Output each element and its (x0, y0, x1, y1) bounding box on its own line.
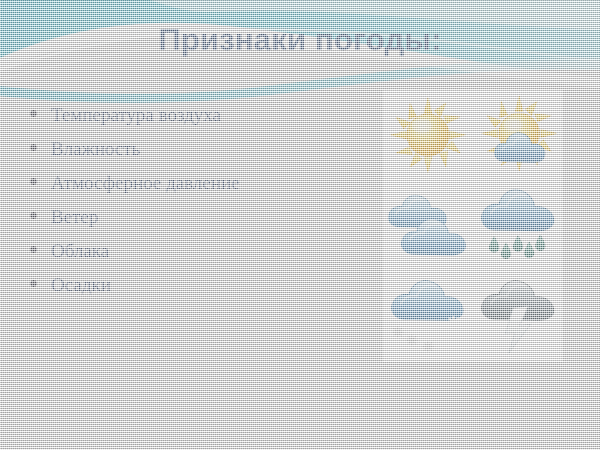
list-item: Осадки (30, 276, 370, 310)
rain-cloud-icon (478, 187, 558, 265)
list-item: Ветер (30, 208, 370, 242)
slide: Признаки погоды: Температура воздуха Вла… (0, 0, 600, 450)
list-item-label: Ветер (51, 208, 98, 229)
sun-cloud-icon (477, 96, 559, 174)
bullet-dot-icon (30, 144, 37, 151)
bullet-dot-icon (30, 246, 37, 253)
bullet-dot-icon (30, 110, 37, 117)
list-item-label: Влажность (51, 140, 140, 161)
list-item: Облака (30, 242, 370, 276)
list-item: Влажность (30, 140, 370, 174)
page-title: Признаки погоды: (0, 22, 600, 58)
list-item-label: Облака (51, 242, 109, 263)
weather-icons-image (383, 90, 563, 362)
icon-cell (383, 271, 473, 362)
list-item-label: Осадки (51, 276, 111, 297)
clouds-icon (386, 190, 470, 262)
list-item: Атмосферное давление (30, 174, 370, 208)
list-item-label: Атмосферное давление (51, 174, 240, 195)
thunderstorm-icon (477, 278, 559, 356)
icon-cell (473, 271, 563, 362)
list-item-label: Температура воздуха (51, 106, 221, 127)
bullet-dot-icon (30, 212, 37, 219)
weather-indicators-list: Температура воздуха Влажность Атмосферно… (30, 106, 370, 310)
icon-cell (473, 90, 563, 181)
icon-cell (383, 181, 473, 272)
snow-cloud-icon (386, 278, 470, 356)
list-item: Температура воздуха (30, 106, 370, 140)
icon-cell (473, 181, 563, 272)
bullet-dot-icon (30, 178, 37, 185)
bullet-dot-icon (30, 280, 37, 287)
sun-icon (389, 96, 467, 174)
icon-cell (383, 90, 473, 181)
